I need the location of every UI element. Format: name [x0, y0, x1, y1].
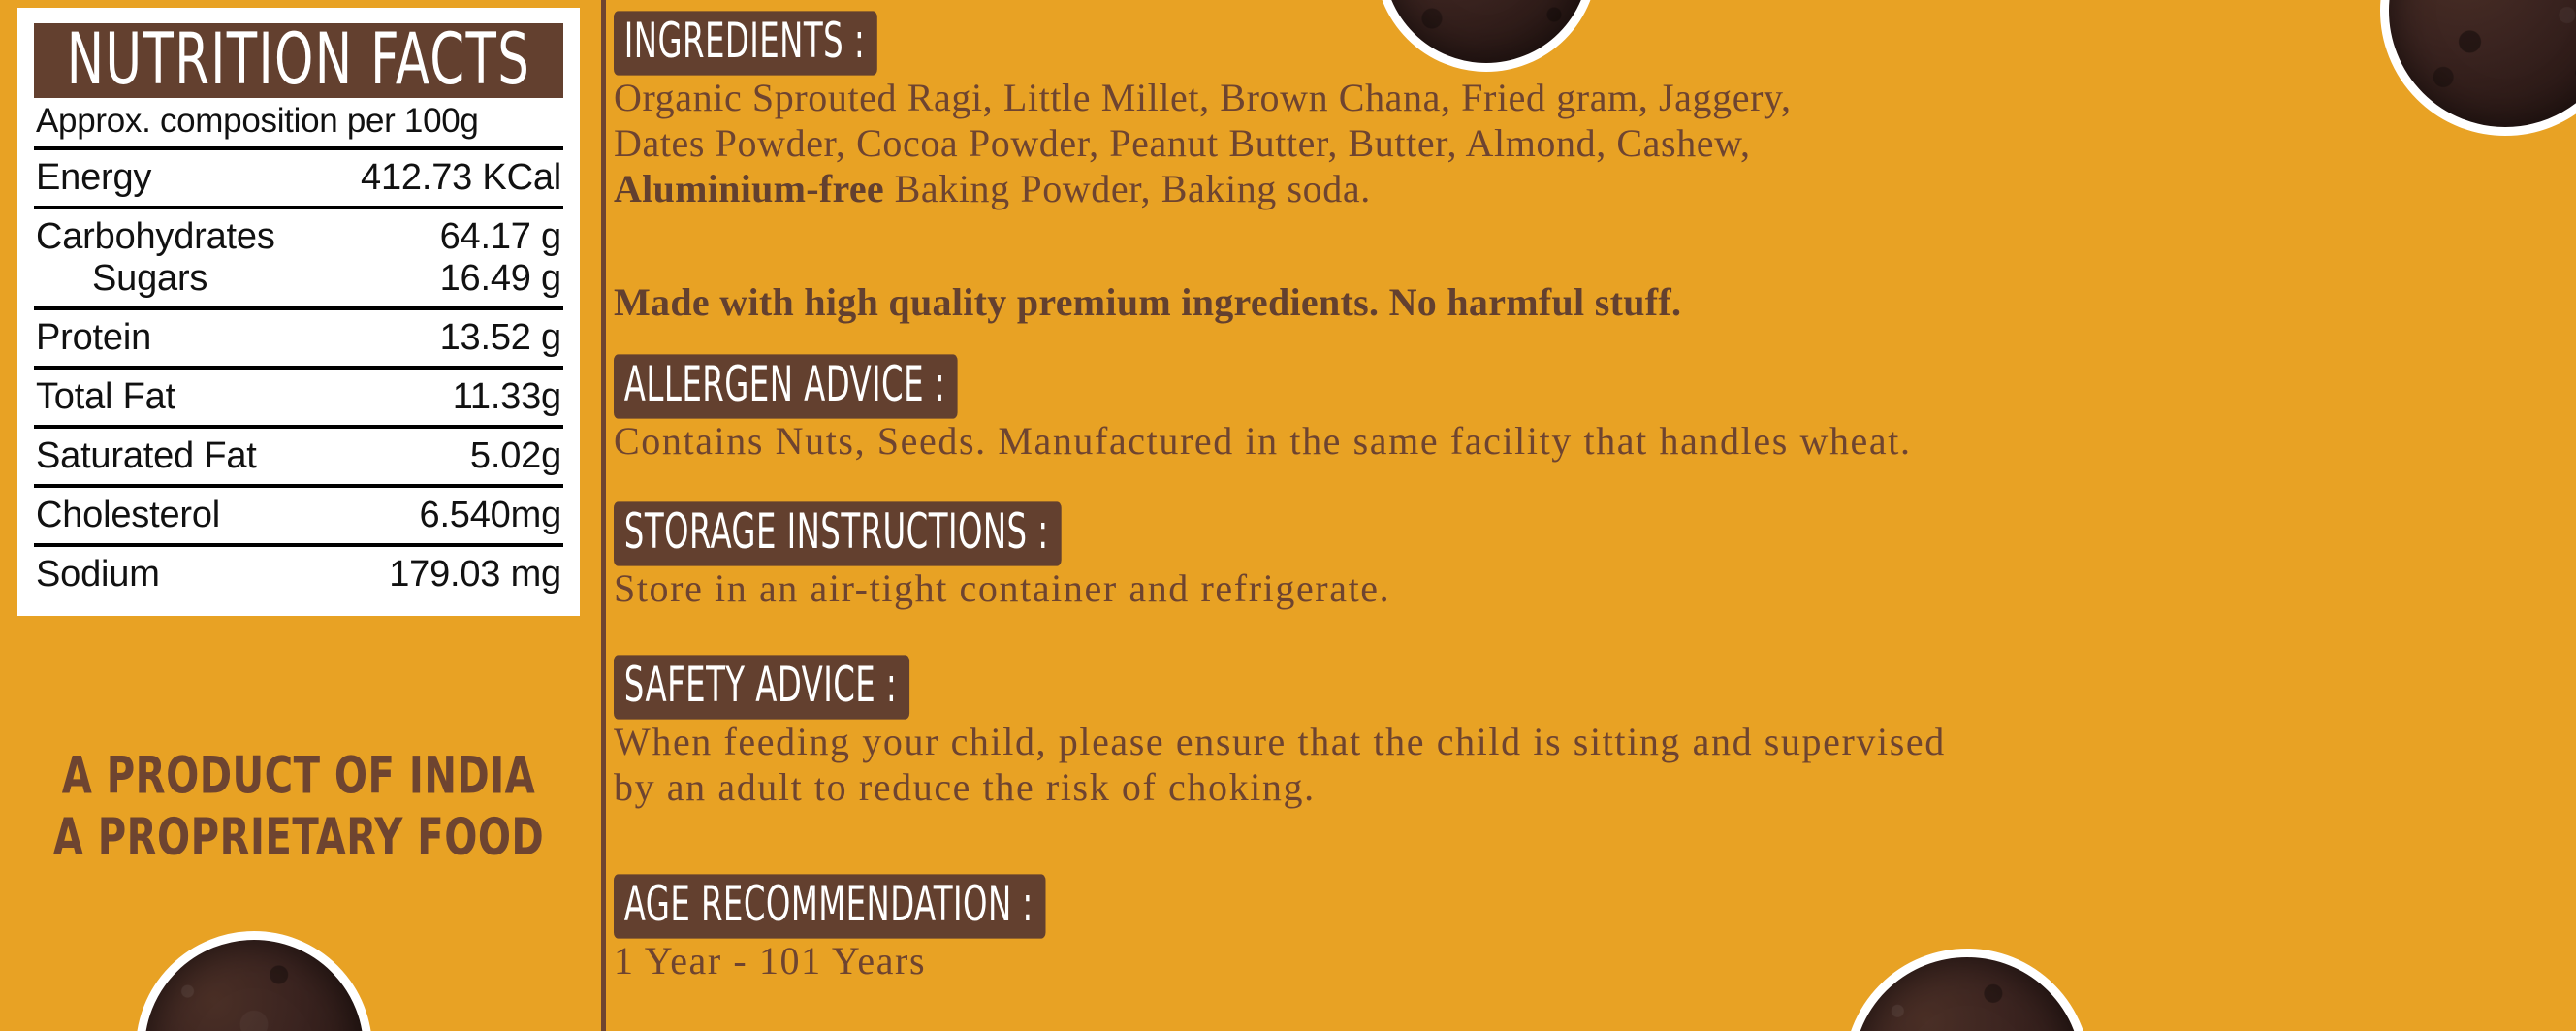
nutrition-row-carbohydrates: Carbohydrates 64.17 g — [34, 209, 563, 258]
ingredients-body: Organic Sprouted Ragi, Little Millet, Br… — [614, 75, 2576, 212]
information-column: INGREDIENTS : Organic Sprouted Ragi, Lit… — [614, 0, 2576, 1031]
nutrition-row-energy: Energy 412.73 KCal — [34, 150, 563, 209]
safety-advice-line-1: When feeding your child, please ensure t… — [614, 719, 2576, 764]
nutrition-subtitle: Approx. composition per 100g — [34, 98, 563, 150]
column-divider — [601, 0, 606, 1031]
product-origin-block: A PRODUCT OF INDIA A PROPRIETARY FOOD — [32, 745, 566, 869]
nutrition-label-energy: Energy — [36, 157, 151, 199]
nutrition-label-total-fat: Total Fat — [36, 376, 175, 418]
quality-statement-text: Made with high quality premium ingredien… — [614, 279, 2576, 325]
nutrition-value-cholesterol: 6.540mg — [420, 495, 561, 536]
nutrition-label-panel: NUTRITION FACTS Approx. composition per … — [0, 0, 2576, 1031]
nutrition-label-saturated-fat: Saturated Fat — [36, 435, 257, 477]
allergen-advice-text: Contains Nuts, Seeds. Manufactured in th… — [614, 418, 2576, 464]
nutrition-label-cholesterol: Cholesterol — [36, 495, 220, 536]
ingredients-line-2: Dates Powder, Cocoa Powder, Peanut Butte… — [614, 120, 2576, 166]
nutrition-value-sodium: 179.03 mg — [389, 554, 561, 596]
ingredients-line-3: Aluminium-free Baking Powder, Baking sod… — [614, 166, 2576, 211]
ingredients-line-3-rest: Baking Powder, Baking soda. — [884, 167, 1371, 210]
nutrition-value-protein: 13.52 g — [440, 317, 561, 359]
nutrition-value-energy: 412.73 KCal — [361, 157, 561, 199]
allergen-advice-tag: ALLERGEN ADVICE : — [614, 354, 958, 418]
nutrition-column: NUTRITION FACTS Approx. composition per … — [0, 0, 603, 1031]
nutrition-value-total-fat: 11.33g — [453, 376, 561, 418]
product-of-india-text: A PRODUCT OF INDIA — [32, 745, 566, 807]
nutrition-row-saturated-fat: Saturated Fat 5.02g — [34, 429, 563, 488]
proprietary-food-text: A PROPRIETARY FOOD — [32, 807, 566, 869]
nutrition-label-carbohydrates: Carbohydrates — [36, 216, 275, 258]
safety-advice-section: SAFETY ADVICE : When feeding your child,… — [614, 661, 2576, 810]
nutrition-row-protein: Protein 13.52 g — [34, 310, 563, 370]
nutrition-label-protein: Protein — [36, 317, 151, 359]
nutrition-row-cholesterol: Cholesterol 6.540mg — [34, 488, 563, 547]
nutrition-facts-title: NUTRITION FACTS — [67, 23, 530, 94]
nutrition-facts-title-bar: NUTRITION FACTS — [34, 23, 563, 98]
storage-instructions-section: STORAGE INSTRUCTIONS : Store in an air-t… — [614, 508, 2576, 611]
quality-statement-section: Made with high quality premium ingredien… — [614, 279, 2576, 325]
safety-advice-tag: SAFETY ADVICE : — [614, 655, 909, 719]
nutrition-label-sugars: Sugars — [92, 258, 207, 300]
safety-advice-body: When feeding your child, please ensure t… — [614, 719, 2576, 810]
nutrition-row-sugars: Sugars 16.49 g — [34, 258, 563, 310]
aluminium-free-highlight: Aluminium-free — [614, 167, 884, 210]
allergen-advice-section: ALLERGEN ADVICE : Contains Nuts, Seeds. … — [614, 361, 2576, 464]
age-recommendation-text: 1 Year - 101 Years — [614, 938, 2576, 983]
nutrition-value-saturated-fat: 5.02g — [470, 435, 561, 477]
nutrition-facts-card: NUTRITION FACTS Approx. composition per … — [17, 8, 580, 616]
age-recommendation-tag: AGE RECOMMENDATION : — [614, 874, 1045, 938]
storage-instructions-tag: STORAGE INSTRUCTIONS : — [614, 501, 1061, 565]
ingredients-tag: INGREDIENTS : — [614, 11, 877, 75]
ingredients-line-1: Organic Sprouted Ragi, Little Millet, Br… — [614, 75, 2576, 120]
ingredients-section: INGREDIENTS : Organic Sprouted Ragi, Lit… — [614, 17, 2576, 212]
safety-advice-line-2: by an adult to reduce the risk of chokin… — [614, 764, 2576, 810]
nutrition-row-sodium: Sodium 179.03 mg — [34, 547, 563, 602]
storage-instructions-text: Store in an air-tight container and refr… — [614, 565, 2576, 611]
nutrition-value-sugars: 16.49 g — [440, 258, 561, 300]
age-recommendation-section: AGE RECOMMENDATION : 1 Year - 101 Years — [614, 881, 2576, 983]
nutrition-row-total-fat: Total Fat 11.33g — [34, 370, 563, 429]
nutrition-value-carbohydrates: 64.17 g — [440, 216, 561, 258]
nutrition-label-sodium: Sodium — [36, 554, 160, 596]
